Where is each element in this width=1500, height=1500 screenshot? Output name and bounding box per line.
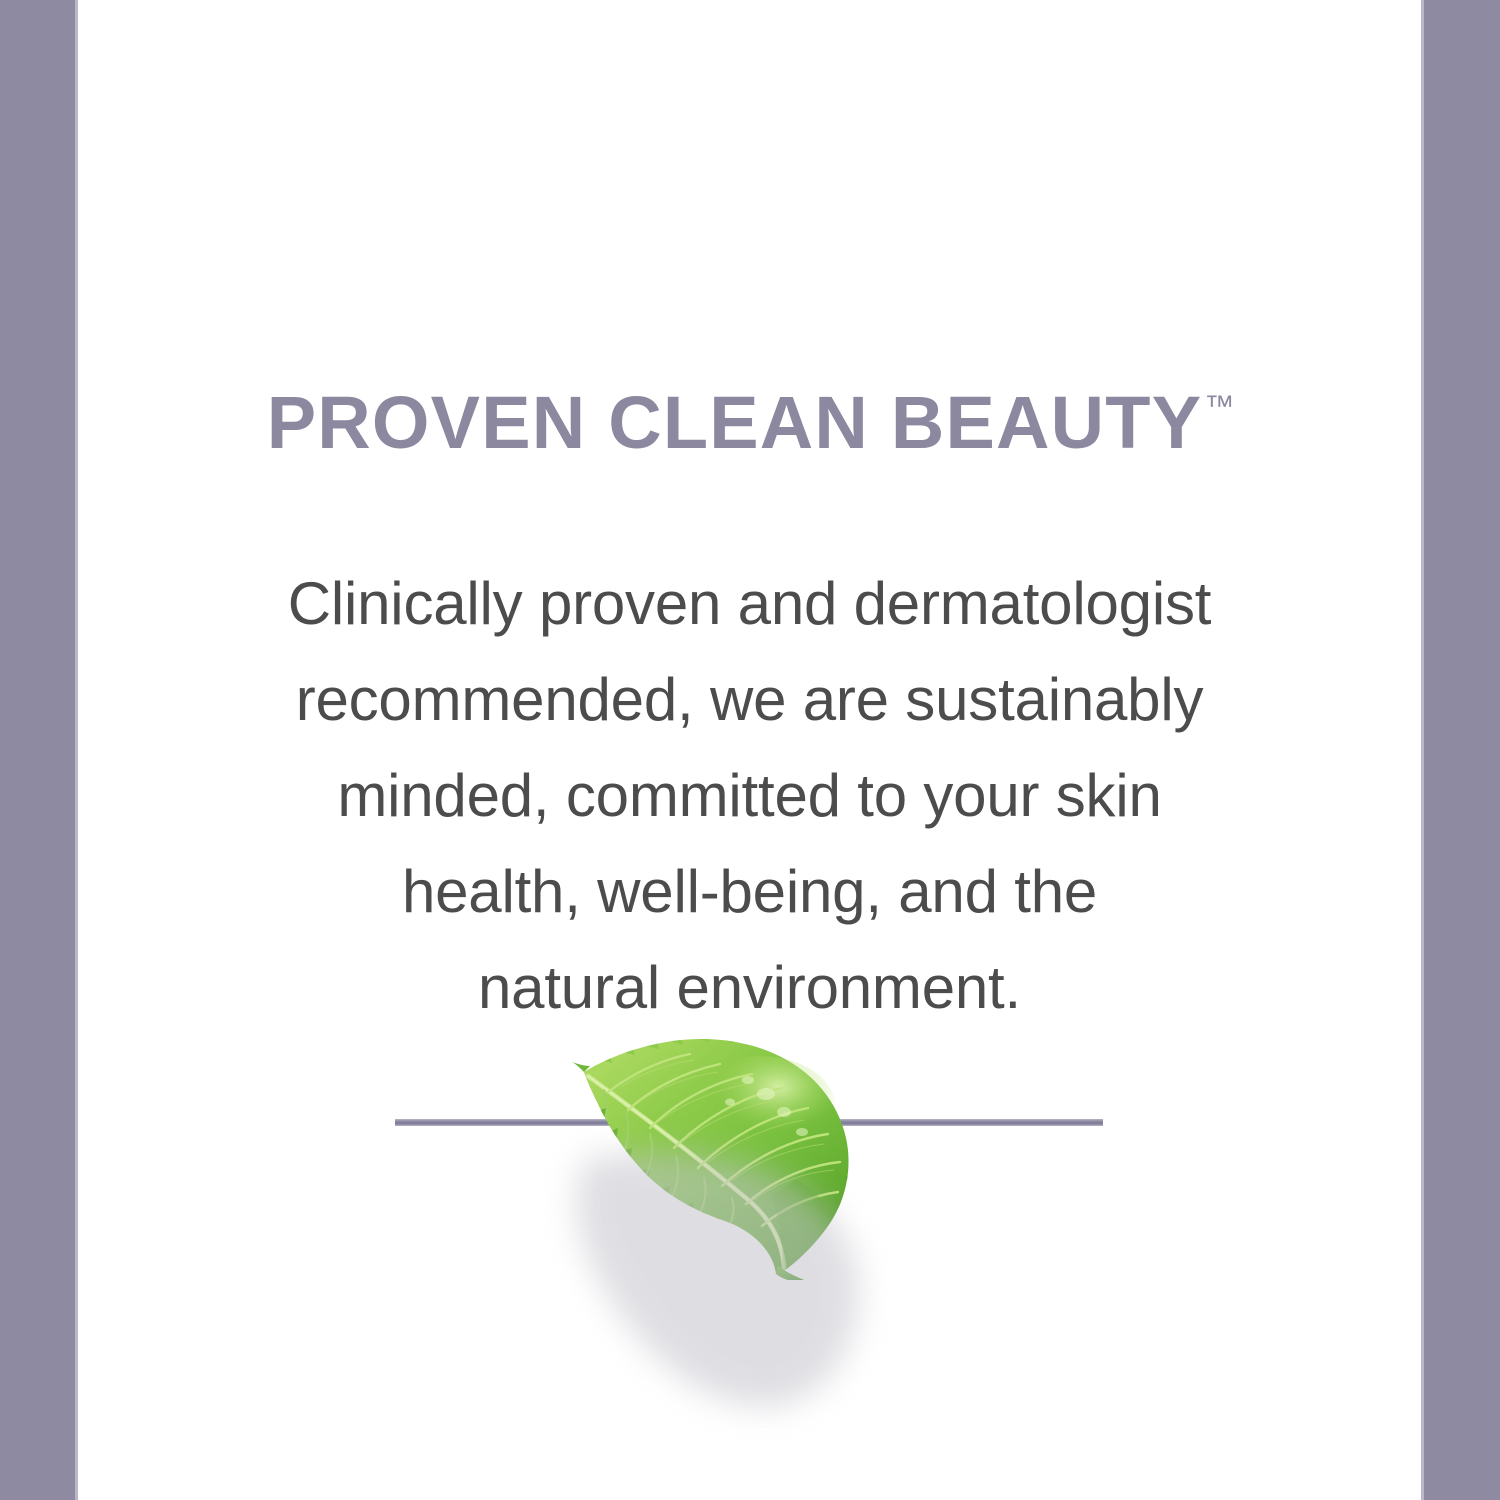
page-title-text: PROVEN CLEAN BEAUTY bbox=[267, 381, 1203, 464]
content-area: PROVEN CLEAN BEAUTY™ Clinically proven a… bbox=[78, 0, 1421, 1500]
left-accent-band bbox=[0, 0, 75, 1500]
right-band-edge bbox=[1421, 0, 1424, 1500]
body-line: minded, committed to your skin bbox=[128, 748, 1371, 844]
body-line: Clinically proven and dermatologist bbox=[128, 556, 1371, 652]
right-accent-band bbox=[1424, 0, 1500, 1500]
page-title: PROVEN CLEAN BEAUTY™ bbox=[78, 386, 1421, 460]
trademark-symbol: ™ bbox=[1204, 390, 1234, 423]
leaf-figure bbox=[570, 1030, 890, 1280]
body-line: recommended, we are sustainably bbox=[128, 652, 1371, 748]
leaf-shadow-icon bbox=[490, 1090, 950, 1410]
leaf-emblem bbox=[78, 1010, 1421, 1410]
promo-card: PROVEN CLEAN BEAUTY™ Clinically proven a… bbox=[0, 0, 1500, 1500]
body-paragraph: Clinically proven and dermatologist reco… bbox=[128, 556, 1371, 1036]
body-line: health, well-being, and the bbox=[128, 844, 1371, 940]
